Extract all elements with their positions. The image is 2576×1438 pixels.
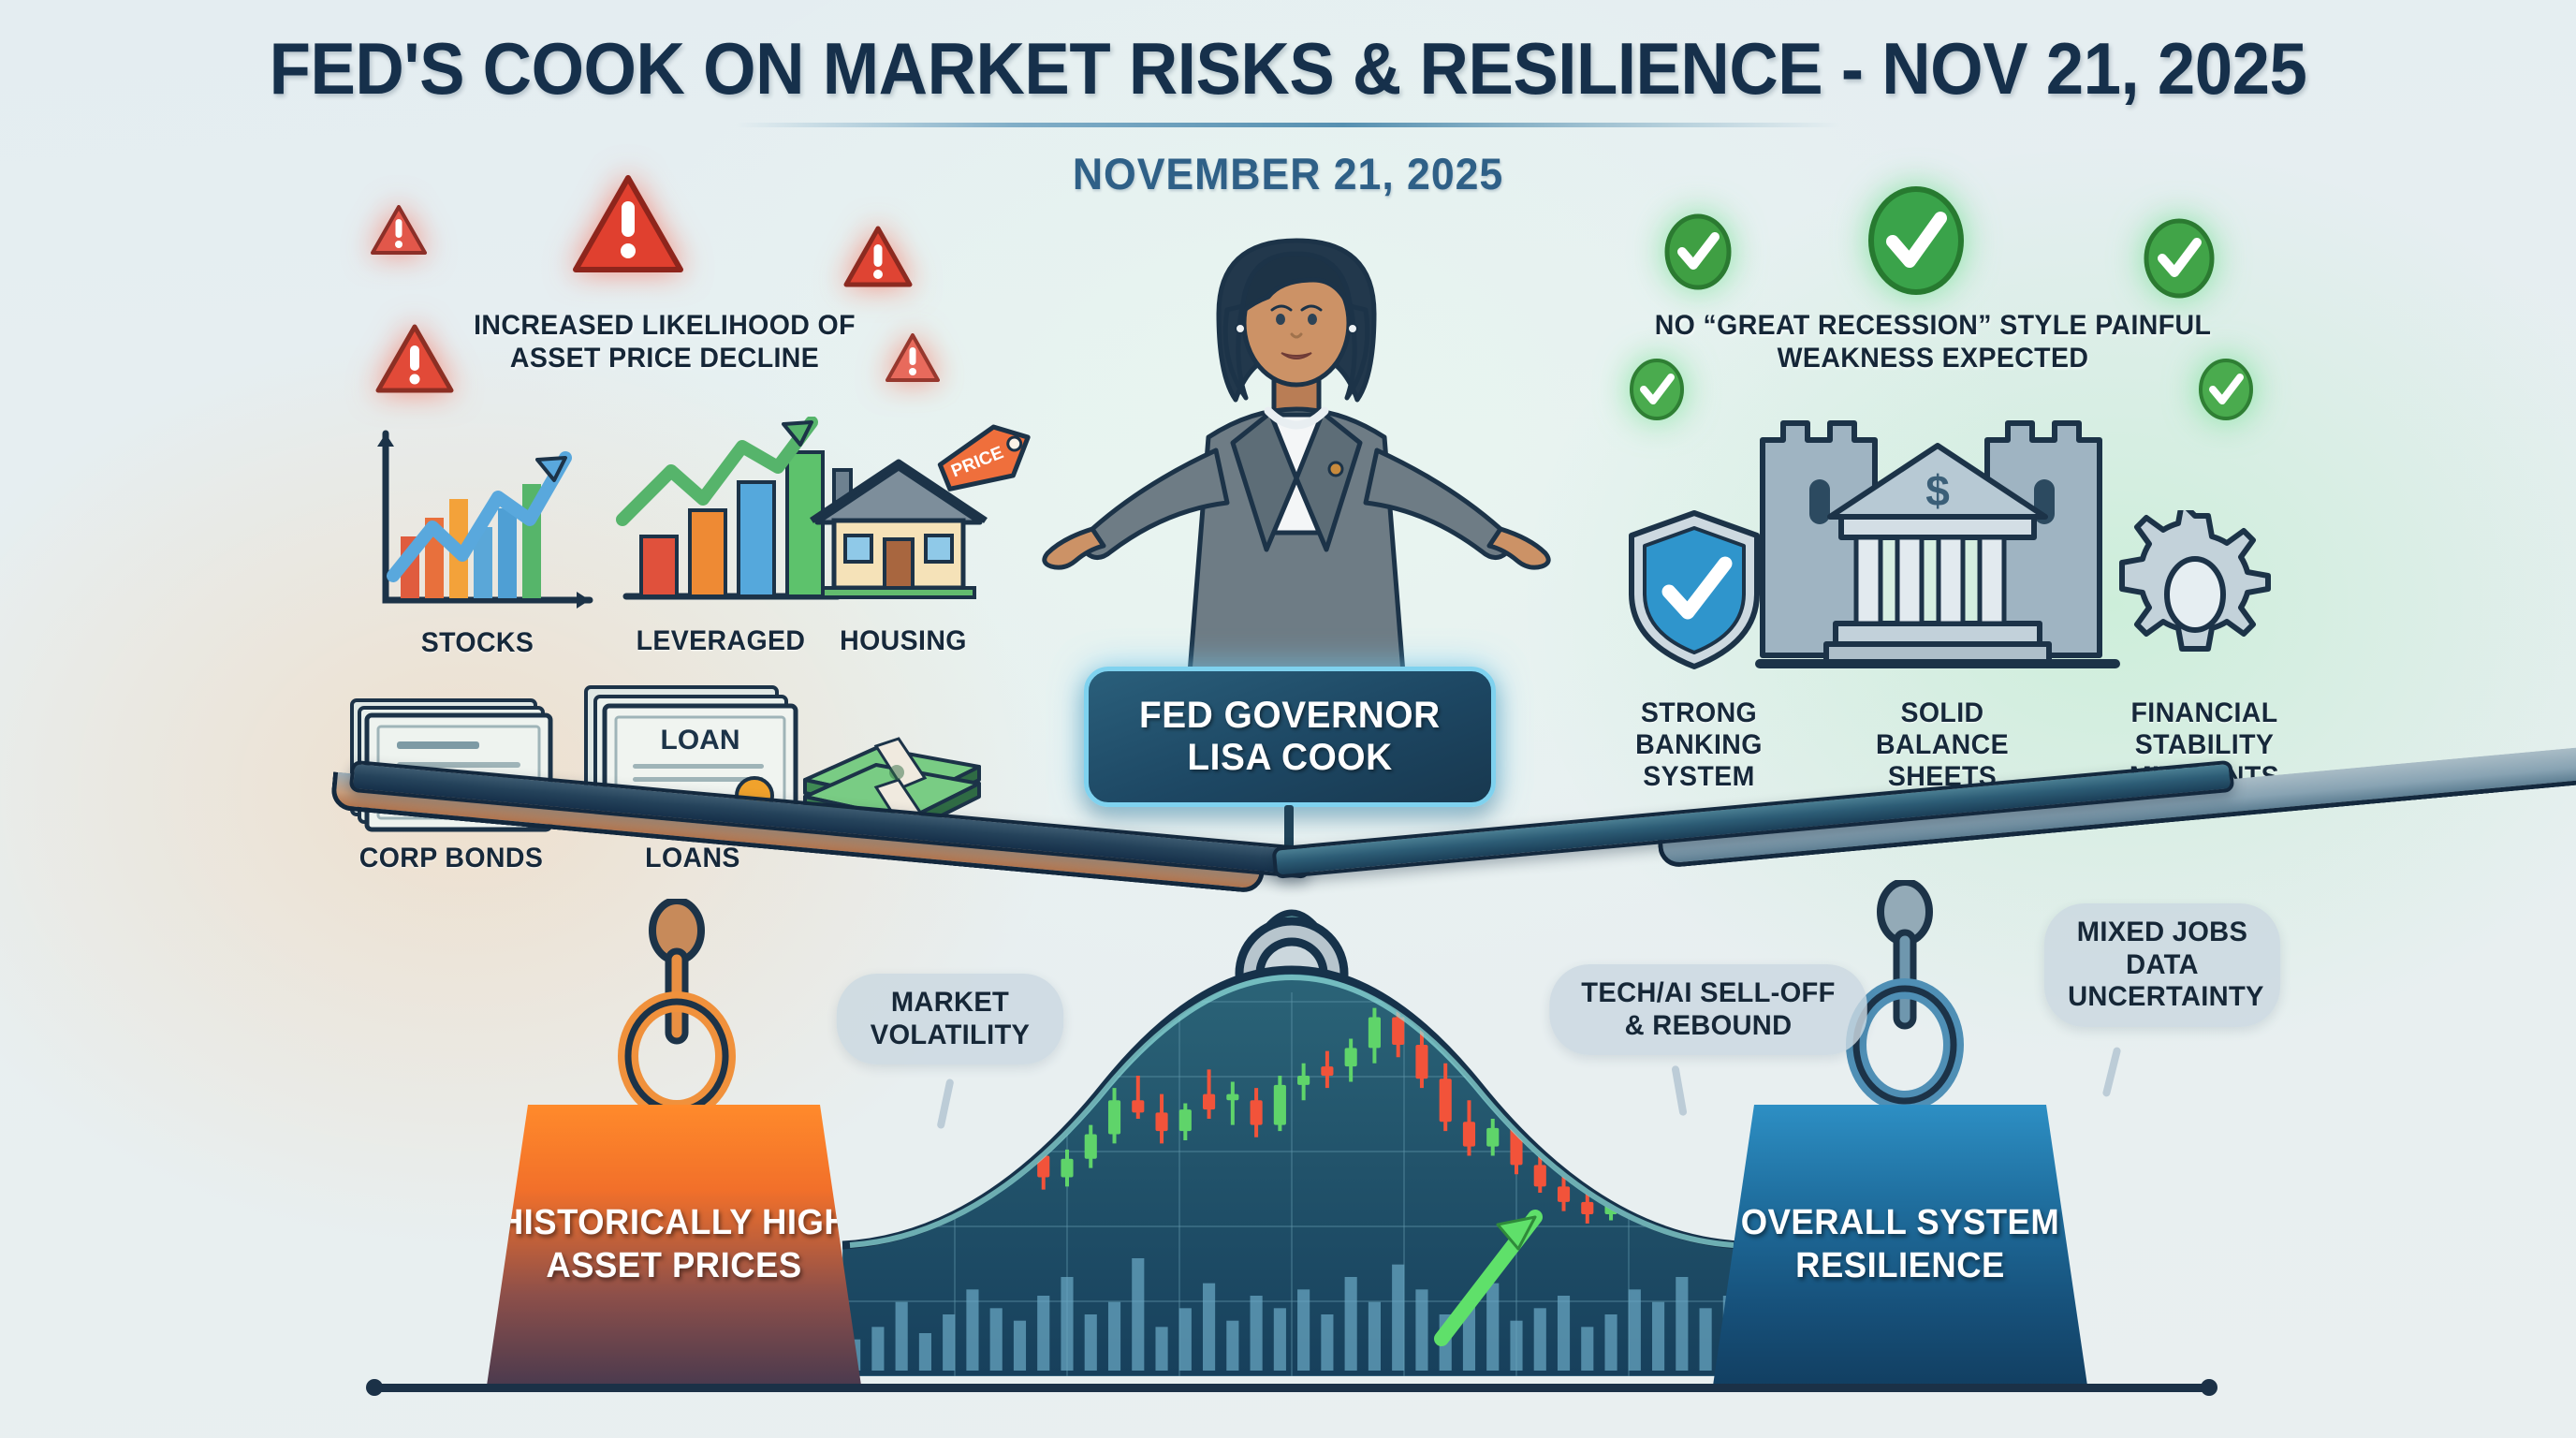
callout-line-2: & REBOUND: [1573, 1010, 1843, 1043]
weight-left: HISTORICALLY HIGH ASSET PRICES: [487, 1105, 861, 1386]
page-subtitle: NOVEMBER 21, 2025: [65, 148, 2511, 199]
callout-line-1: MIXED JOBS: [2068, 917, 2257, 949]
callout-line-3: UNCERTAINTY: [2068, 981, 2257, 1014]
svg-text:$: $: [1925, 466, 1950, 515]
green-check-icon: [1664, 213, 1732, 290]
line-chart-up-icon: [365, 426, 599, 623]
weight-left-label: HISTORICALLY HIGH ASSET PRICES: [494, 1202, 854, 1287]
green-check-icon: [1867, 185, 1965, 296]
callout-mixed-jobs: MIXED JOBS DATA UNCERTAINTY: [2044, 903, 2280, 1027]
callout-line-2: VOLATILITY: [860, 1020, 1040, 1052]
callout-line-1: MARKET: [860, 987, 1040, 1020]
header: FED'S COOK ON MARKET RISKS & RESILIENCE …: [0, 0, 2576, 199]
warning-triangle-icon: [370, 204, 428, 257]
weight-right: OVERALL SYSTEM RESILIENCE: [1713, 1105, 2087, 1386]
scale-hanger-left: [607, 899, 747, 1128]
callout-market-volatility: MARKET VOLATILITY: [837, 974, 1064, 1064]
name-plate: FED GOVERNOR LISA COOK: [1084, 667, 1496, 807]
pillar-label-strong-banking: STRONG BANKING SYSTEM: [1597, 697, 1802, 793]
asset-label-stocks: STOCKS: [366, 627, 589, 659]
green-check-icon: [2144, 218, 2215, 299]
name-plate-line2: LISA COOK: [1187, 737, 1392, 779]
callout-tail: [2102, 1047, 2122, 1097]
asset-label-corp-bonds: CORP BONDS: [336, 843, 567, 874]
fed-governor-portrait: [988, 201, 1605, 693]
bank-fortress-icon: $: [1736, 412, 2139, 683]
risk-headline: INCREASED LIKELIHOOD OF ASSET PRICE DECL…: [438, 309, 892, 375]
infographic-canvas: FED'S COOK ON MARKET RISKS & RESILIENCE …: [0, 0, 2576, 1438]
warning-triangle-icon: [842, 225, 914, 290]
name-plate-line1: FED GOVERNOR: [1139, 695, 1441, 737]
baseline-rule: [374, 1384, 2209, 1392]
title-divider: [736, 123, 1840, 127]
svg-text:LOAN: LOAN: [661, 725, 740, 756]
callout-line-2: DATA: [2068, 949, 2257, 982]
page-title: FED'S COOK ON MARKET RISKS & RESILIENCE …: [90, 26, 2485, 111]
pillar-label-solid-balance: SOLID BALANCE SHEETS: [1840, 697, 2045, 793]
weight-right-label: OVERALL SYSTEM RESILIENCE: [1720, 1202, 2080, 1287]
asset-label-housing: HOUSING: [810, 625, 997, 657]
callout-tech-ai: TECH/AI SELL-OFF & REBOUND: [1549, 964, 1867, 1055]
gear-icon: [2111, 510, 2279, 679]
resilience-headline: NO “GREAT RECESSION” STYLE PAINFUL WEAKN…: [1648, 309, 2217, 375]
warning-triangle-icon: [571, 173, 685, 276]
callout-line-1: TECH/AI SELL-OFF: [1573, 977, 1843, 1010]
warning-triangle-icon: [885, 332, 941, 384]
